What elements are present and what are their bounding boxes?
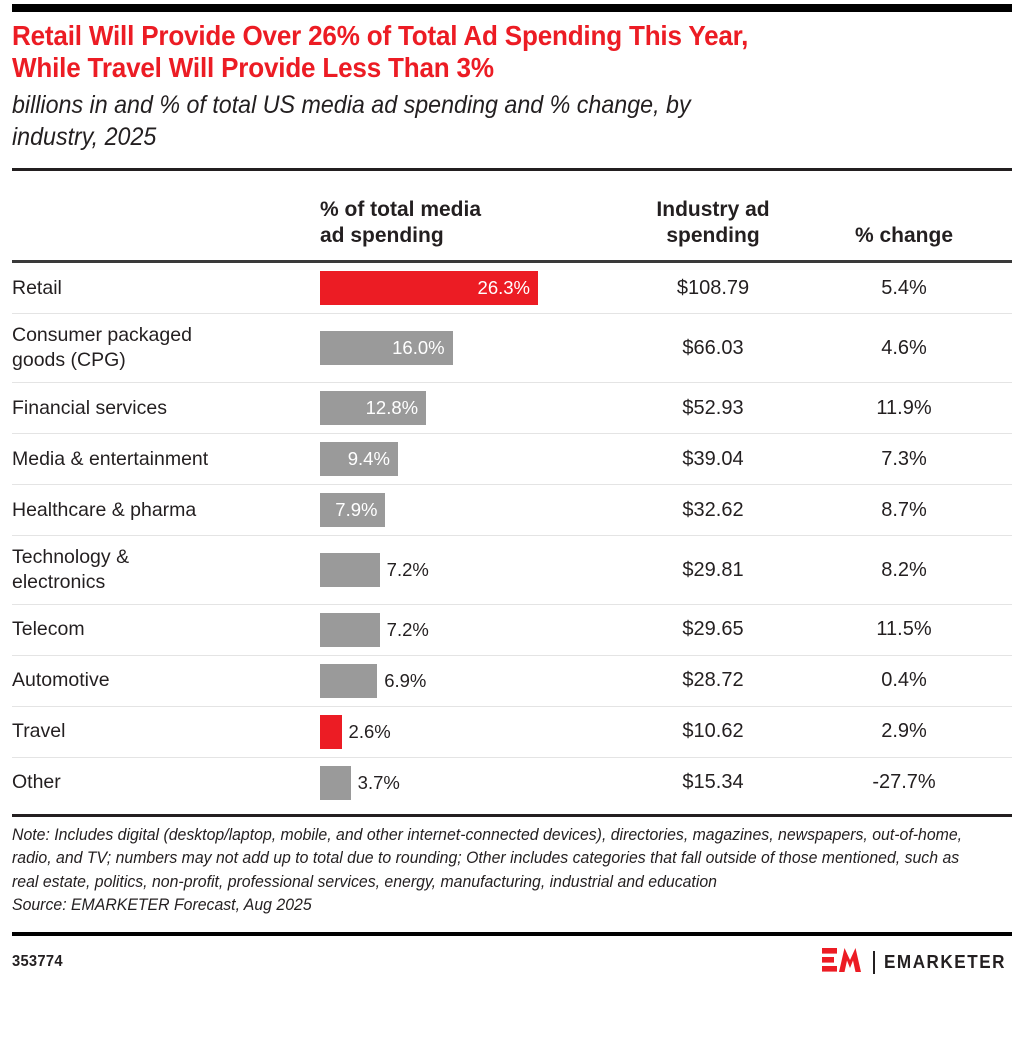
table-row: Healthcare & pharma7.9%$32.628.7%	[12, 485, 1012, 536]
column-header-industry-ad-spending: Industry ad spending	[626, 171, 818, 262]
chart-card: Retail Will Provide Over 26% of Total Ad…	[0, 4, 1024, 1047]
bar	[320, 766, 351, 800]
bar-value-label: 26.3%	[478, 277, 538, 299]
bar-wrap: 7.9%	[320, 493, 626, 527]
brand-lockup: EMARKETER	[822, 947, 1012, 978]
row-pct-change: 5.4%	[818, 262, 1012, 314]
table-header: % of total media ad spending Industry ad…	[12, 171, 1012, 262]
table-row: Telecom7.2%$29.6511.5%	[12, 604, 1012, 655]
bar-wrap: 2.6%	[320, 715, 626, 749]
row-bar-cell: 7.2%	[320, 604, 626, 655]
row-pct-change: 0.4%	[818, 655, 1012, 706]
bar-wrap: 6.9%	[320, 664, 626, 698]
row-pct-change: 11.5%	[818, 604, 1012, 655]
row-bar-cell: 12.8%	[320, 383, 626, 434]
row-label: Telecom	[12, 604, 320, 655]
row-industry-ad-spending: $29.81	[626, 536, 818, 605]
bar: 16.0%	[320, 331, 453, 365]
row-label: Retail	[12, 262, 320, 314]
column-header-industry	[12, 171, 320, 262]
row-industry-ad-spending: $10.62	[626, 706, 818, 757]
bar-value-label: 2.6%	[342, 721, 391, 743]
bar	[320, 715, 342, 749]
bar: 7.9%	[320, 493, 385, 527]
bar-wrap: 9.4%	[320, 442, 626, 476]
row-industry-ad-spending: $32.62	[626, 485, 818, 536]
row-pct-change: 11.9%	[818, 383, 1012, 434]
row-pct-change: 7.3%	[818, 434, 1012, 485]
row-label: Financial services	[12, 383, 320, 434]
row-pct-change: 2.9%	[818, 706, 1012, 757]
table-header-row: % of total media ad spending Industry ad…	[12, 171, 1012, 262]
bar	[320, 664, 377, 698]
row-bar-cell: 9.4%	[320, 434, 626, 485]
row-label: Other	[12, 757, 320, 808]
page-subtitle: billions in and % of total US media ad s…	[12, 85, 942, 154]
row-pct-change: 8.7%	[818, 485, 1012, 536]
row-bar-cell: 7.9%	[320, 485, 626, 536]
row-bar-cell: 26.3%	[320, 262, 626, 314]
row-bar-cell: 7.2%	[320, 536, 626, 605]
bar-value-label: 6.9%	[377, 670, 426, 692]
bar-value-label: 3.7%	[351, 772, 400, 794]
bar: 26.3%	[320, 271, 538, 305]
row-industry-ad-spending: $29.65	[626, 604, 818, 655]
bar-wrap: 7.2%	[320, 613, 626, 647]
bar-wrap: 7.2%	[320, 553, 626, 587]
bar: 9.4%	[320, 442, 398, 476]
bar-value-label: 12.8%	[366, 397, 426, 419]
table-body: Retail26.3%$108.795.4%Consumer packaged …	[12, 262, 1012, 808]
row-label: Healthcare & pharma	[12, 485, 320, 536]
bar-value-label: 7.2%	[380, 619, 429, 641]
table-row: Travel2.6%$10.622.9%	[12, 706, 1012, 757]
row-bar-cell: 16.0%	[320, 314, 626, 383]
bar-wrap: 26.3%	[320, 271, 626, 305]
chart-id: 353774	[12, 953, 63, 971]
row-industry-ad-spending: $108.79	[626, 262, 818, 314]
title-block: Retail Will Provide Over 26% of Total Ad…	[12, 12, 1012, 158]
bar-wrap: 16.0%	[320, 331, 626, 365]
table-row: Other3.7%$15.34-27.7%	[12, 757, 1012, 808]
row-industry-ad-spending: $15.34	[626, 757, 818, 808]
bar-wrap: 12.8%	[320, 391, 626, 425]
data-table: % of total media ad spending Industry ad…	[12, 171, 1012, 808]
source-text: Source: EMARKETER Forecast, Aug 2025	[12, 894, 972, 917]
row-label: Travel	[12, 706, 320, 757]
table-row: Automotive6.9%$28.720.4%	[12, 655, 1012, 706]
row-bar-cell: 6.9%	[320, 655, 626, 706]
column-header-pct-change: % change	[818, 171, 1012, 262]
bar-value-label: 9.4%	[348, 448, 398, 470]
bar-value-label: 7.9%	[335, 499, 385, 521]
row-bar-cell: 3.7%	[320, 757, 626, 808]
footer: 353774 EMARKETER	[12, 936, 1012, 978]
table-row: Retail26.3%$108.795.4%	[12, 262, 1012, 314]
bar: 12.8%	[320, 391, 426, 425]
row-pct-change: 4.6%	[818, 314, 1012, 383]
row-industry-ad-spending: $52.93	[626, 383, 818, 434]
row-industry-ad-spending: $39.04	[626, 434, 818, 485]
brand-wordmark: EMARKETER	[884, 952, 1006, 973]
row-pct-change: -27.7%	[818, 757, 1012, 808]
emarketer-logo-icon	[822, 947, 864, 978]
table-row: Consumer packaged goods (CPG)16.0%$66.03…	[12, 314, 1012, 383]
bar	[320, 553, 380, 587]
row-label: Media & entertainment	[12, 434, 320, 485]
table-row: Technology & electronics7.2%$29.818.2%	[12, 536, 1012, 605]
column-header-pct-of-total: % of total media ad spending	[320, 171, 626, 262]
row-industry-ad-spending: $66.03	[626, 314, 818, 383]
top-rule	[12, 4, 1012, 12]
note-text: Note: Includes digital (desktop/laptop, …	[12, 817, 972, 894]
row-bar-cell: 2.6%	[320, 706, 626, 757]
row-label: Technology & electronics	[12, 536, 320, 605]
row-industry-ad-spending: $28.72	[626, 655, 818, 706]
bar	[320, 613, 380, 647]
row-label: Automotive	[12, 655, 320, 706]
page-title: Retail Will Provide Over 26% of Total Ad…	[12, 20, 942, 85]
bar-value-label: 16.0%	[392, 337, 452, 359]
row-pct-change: 8.2%	[818, 536, 1012, 605]
row-label: Consumer packaged goods (CPG)	[12, 314, 320, 383]
bar-wrap: 3.7%	[320, 766, 626, 800]
table-row: Media & entertainment9.4%$39.047.3%	[12, 434, 1012, 485]
table-row: Financial services12.8%$52.9311.9%	[12, 383, 1012, 434]
bar-value-label: 7.2%	[380, 559, 429, 581]
brand-divider	[873, 951, 875, 974]
